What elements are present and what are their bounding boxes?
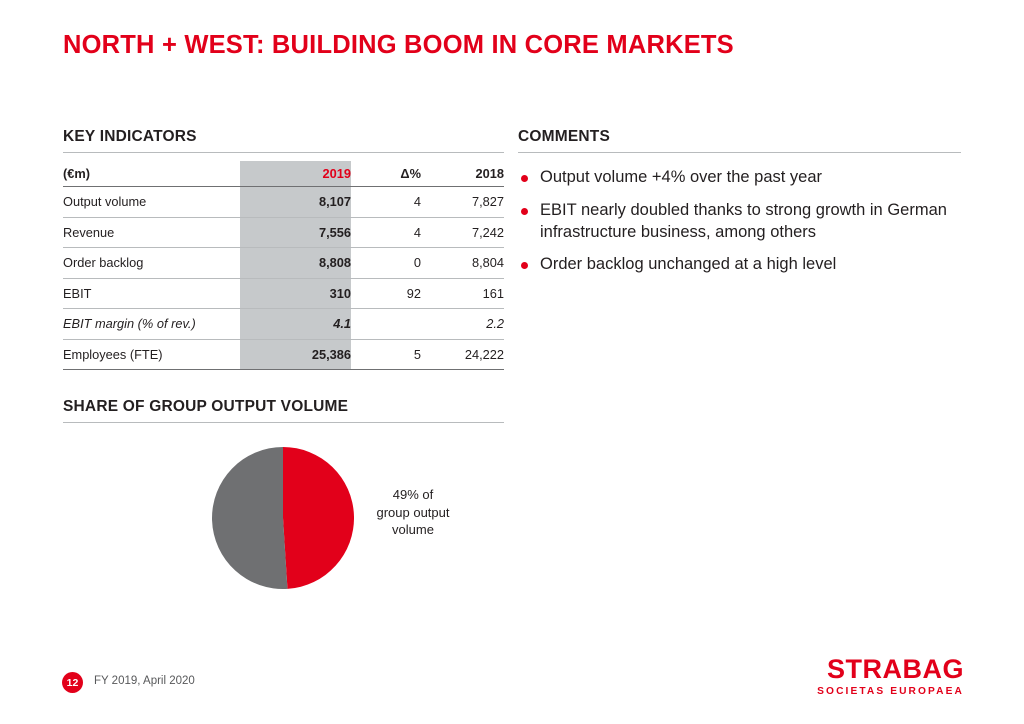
row-value-delta: 92 <box>351 278 421 309</box>
comments-heading: COMMENTS <box>518 128 961 146</box>
table-row: Order backlog 8,808 0 8,804 <box>63 248 504 279</box>
pie-chart-svg <box>212 447 354 589</box>
strabag-logo: STRABAG SOCIETAS EUROPAEA <box>817 656 964 697</box>
table-row: Output volume 8,107 4 7,827 <box>63 187 504 218</box>
comments-section: COMMENTS Output volume +4% over the past… <box>518 128 961 287</box>
page-title: NORTH + WEST: BUILDING BOOM IN CORE MARK… <box>63 31 734 60</box>
row-value-delta: 5 <box>351 339 421 370</box>
page-number-badge: 12 <box>62 672 83 693</box>
row-value-2019: 8,808 <box>240 248 351 279</box>
row-value-2019: 310 <box>240 278 351 309</box>
column-header-unit: (€m) <box>63 161 240 187</box>
share-of-group-section: SHARE OF GROUP OUTPUT VOLUME <box>63 398 504 423</box>
pie-annotation-line-1: 49% of <box>366 486 460 504</box>
row-value-2019: 25,386 <box>240 339 351 370</box>
share-of-group-rule <box>63 422 504 423</box>
row-label: Employees (FTE) <box>63 339 240 370</box>
row-label: Revenue <box>63 217 240 248</box>
list-item: Order backlog unchanged at a high level <box>518 254 961 276</box>
logo-wordmark: STRABAG <box>817 656 964 683</box>
row-value-2018: 161 <box>421 278 504 309</box>
row-value-2018: 8,804 <box>421 248 504 279</box>
row-label: Order backlog <box>63 248 240 279</box>
list-item: EBIT nearly doubled thanks to strong gro… <box>518 200 961 244</box>
comments-list: Output volume +4% over the past year EBI… <box>518 167 961 276</box>
column-header-2019: 2019 <box>240 161 351 187</box>
table-header-row: (€m) 2019 Δ% 2018 <box>63 161 504 187</box>
key-indicators-rule <box>63 152 504 153</box>
footer-text: FY 2019, April 2020 <box>94 675 195 687</box>
row-value-delta: 4 <box>351 187 421 218</box>
pie-slice-north-west <box>283 447 354 589</box>
row-value-2019: 4.1 <box>240 309 351 340</box>
share-of-group-heading: SHARE OF GROUP OUTPUT VOLUME <box>63 398 504 416</box>
key-indicators-section: KEY INDICATORS (€m) 2019 Δ% 2018 Output … <box>63 128 504 370</box>
row-label: EBIT margin (% of rev.) <box>63 309 240 340</box>
column-header-2018: 2018 <box>421 161 504 187</box>
row-value-2018: 7,827 <box>421 187 504 218</box>
table-row: EBIT margin (% of rev.) 4.1 2.2 <box>63 309 504 340</box>
row-value-2018: 2.2 <box>421 309 504 340</box>
row-label: Output volume <box>63 187 240 218</box>
row-value-delta <box>351 309 421 340</box>
key-indicators-heading: KEY INDICATORS <box>63 128 504 146</box>
comments-rule <box>518 152 961 153</box>
pie-chart-annotation: 49% of group output volume <box>366 486 460 539</box>
table-row: Revenue 7,556 4 7,242 <box>63 217 504 248</box>
logo-subtitle: SOCIETAS EUROPAEA <box>817 687 964 697</box>
table-row: EBIT 310 92 161 <box>63 278 504 309</box>
row-label: EBIT <box>63 278 240 309</box>
list-item: Output volume +4% over the past year <box>518 167 961 189</box>
row-value-2019: 7,556 <box>240 217 351 248</box>
pie-chart <box>212 447 354 589</box>
key-indicators-table: (€m) 2019 Δ% 2018 Output volume 8,107 4 … <box>63 161 504 370</box>
pie-slice-rest <box>212 447 287 589</box>
table-row: Employees (FTE) 25,386 5 24,222 <box>63 339 504 370</box>
column-header-delta: Δ% <box>351 161 421 187</box>
row-value-delta: 4 <box>351 217 421 248</box>
pie-annotation-line-2: group output <box>366 504 460 522</box>
row-value-2019: 8,107 <box>240 187 351 218</box>
pie-annotation-line-3: volume <box>366 521 460 539</box>
row-value-2018: 7,242 <box>421 217 504 248</box>
row-value-delta: 0 <box>351 248 421 279</box>
row-value-2018: 24,222 <box>421 339 504 370</box>
